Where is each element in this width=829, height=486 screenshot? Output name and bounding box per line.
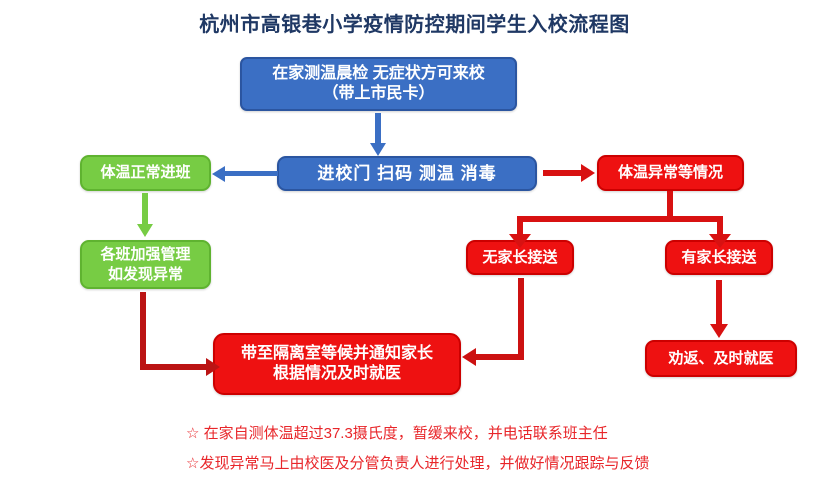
arrow-head	[212, 166, 225, 182]
arrow-head	[509, 234, 531, 248]
arrow-head	[137, 224, 153, 237]
node-isolation-room: 带至隔离室等候并通知家长 根据情况及时就医	[213, 333, 461, 395]
arrow-line	[474, 354, 524, 360]
node-advise-return-seek-medical: 劝返、及时就医	[645, 340, 797, 377]
arrow-line	[517, 216, 523, 236]
arrow-line	[543, 170, 583, 176]
arrow-line	[517, 216, 723, 222]
arrow-head	[710, 324, 728, 338]
node-class-management: 各班加强管理 如发现异常	[80, 240, 211, 289]
arrow-line	[140, 292, 146, 370]
arrow-line	[518, 278, 524, 360]
node-home-temperature-check: 在家测温晨检 无症状方可来校 （带上市民卡）	[240, 57, 517, 111]
arrow-line	[667, 191, 673, 219]
arrow-head	[370, 143, 386, 156]
flowchart-canvas: 杭州市高银巷小学疫情防控期间学生入校流程图 在家测温晨检 无症状方可来校 （带上…	[0, 0, 829, 486]
arrow-line	[142, 193, 148, 226]
node-normal-temperature-enter-class: 体温正常进班	[80, 155, 211, 191]
node-abnormal-temperature: 体温异常等情况	[597, 155, 744, 191]
footnote-abnormal-handling: ☆发现异常马上由校医及分管负责人进行处理，并做好情况跟踪与反馈	[186, 452, 649, 473]
arrow-head	[462, 348, 476, 366]
arrow-line	[375, 113, 381, 145]
arrow-line	[140, 364, 210, 370]
page-title: 杭州市高银巷小学疫情防控期间学生入校流程图	[0, 8, 829, 37]
arrow-line	[717, 216, 723, 236]
node-school-entry-process: 进校门 扫码 测温 消毒	[277, 156, 537, 191]
footnote-temperature-threshold: ☆ 在家自测体温超过37.3摄氏度，暂缓来校，并电话联系班主任	[186, 422, 608, 443]
arrow-head	[206, 358, 220, 376]
arrow-head	[581, 164, 595, 182]
arrow-line	[716, 280, 722, 328]
arrow-head	[709, 234, 731, 248]
arrow-line	[224, 171, 278, 176]
